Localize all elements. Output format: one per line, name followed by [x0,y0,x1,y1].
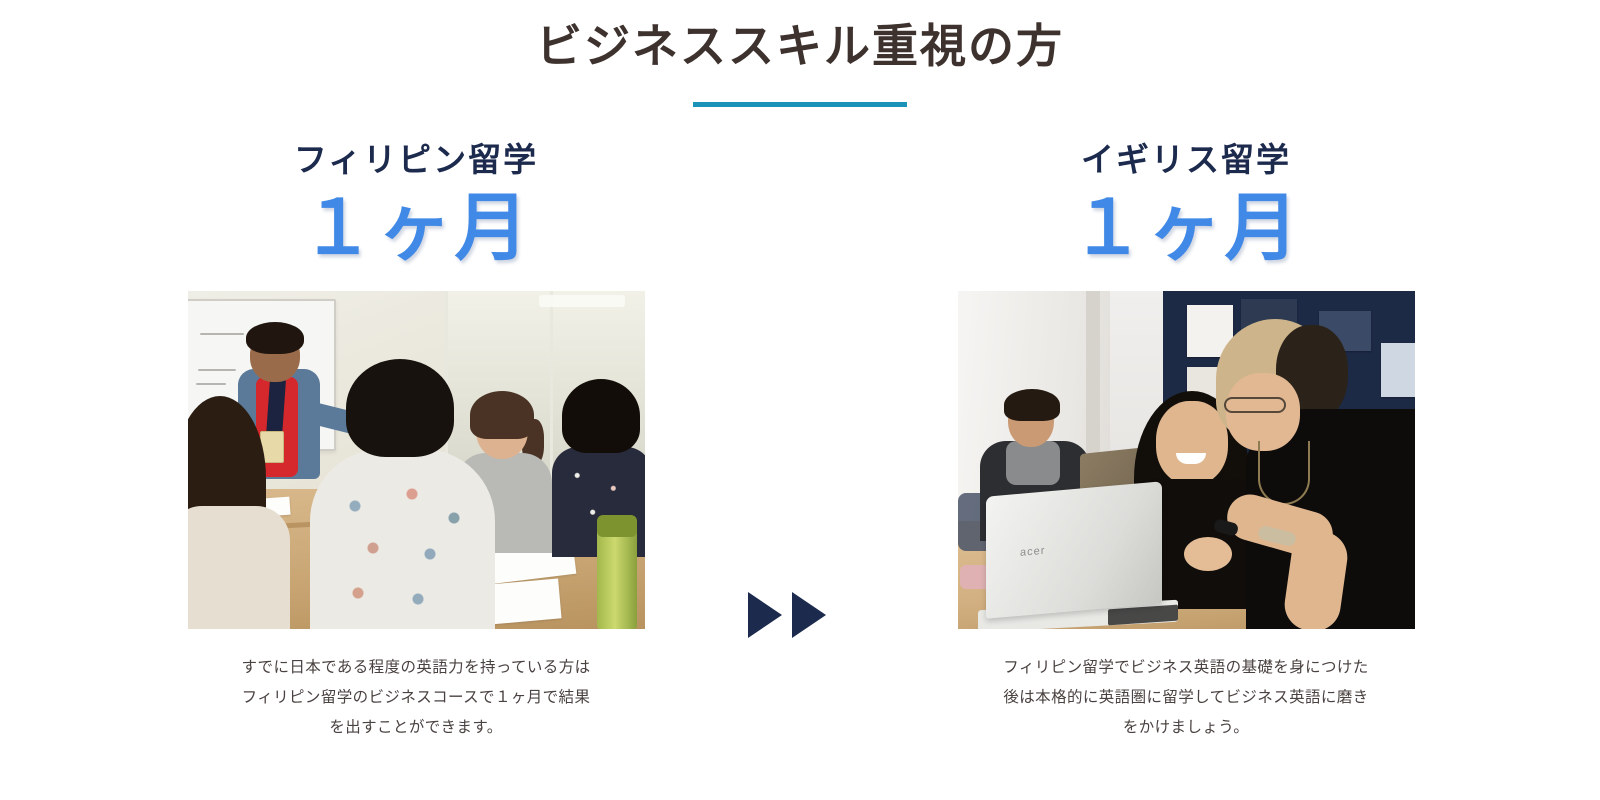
ceiling-light [539,295,625,307]
teacher-hand [1184,537,1232,571]
column-heading-philippines: フィリピン留学 １ヶ月 [136,140,696,271]
photo-uk-classroom: acer [958,291,1415,629]
whiteboard-writing [200,333,244,335]
necklace [1258,441,1310,505]
student-head-back [346,359,454,457]
whiteboard-writing [196,383,226,385]
column-philippines: フィリピン留学 １ヶ月 [136,140,696,744]
teacher-hair [246,322,304,354]
caption-line: すでに日本である程度の英語力を持っている方は [181,653,651,683]
caption-line: 後は本格的に英語圏に留学してビジネス英語に磨き [951,683,1421,713]
column-heading-uk: イギリス留学 １ヶ月 [906,140,1466,271]
student-hair [470,391,534,439]
column-uk: イギリス留学 １ヶ月 [906,140,1466,744]
country-label-philippines: フィリピン留学 [136,140,696,180]
glasses-icon [1224,397,1286,413]
caption-philippines: すでに日本である程度の英語力を持っている方は フィリピン留学のビジネスコースで１… [181,653,651,744]
whiteboard-writing [198,369,236,371]
comparison-columns: フィリピン留学 １ヶ月 [0,140,1600,780]
laptop-lid [986,481,1162,618]
photo-philippines-classroom [188,291,645,629]
poster [1381,343,1415,397]
shirt-pattern [328,473,478,623]
duration-label-philippines: １ヶ月 [136,184,696,271]
caption-line: フィリピン留学でビジネス英語の基礎を身につけた [951,653,1421,683]
student-cream-top [188,506,290,629]
arrow-triangle-1-icon [748,592,782,638]
double-right-arrow-icon [748,592,826,638]
arrow-triangle-2-icon [792,592,826,638]
caption-line: を出すことができます。 [181,713,651,743]
page-title-block: ビジネススキル重視の方 [0,18,1600,107]
student-hair [562,379,640,453]
caption-line: をかけましょう。 [951,713,1421,743]
student-hair [1004,389,1060,421]
title-underline [693,102,907,107]
comparison-page: ビジネススキル重視の方 フィリピン留学 １ヶ月 [0,0,1600,800]
caption-line: フィリピン留学のビジネスコースで１ヶ月で結果 [181,683,651,713]
student-scarf [1006,441,1060,485]
student-face [1156,401,1228,485]
duration-label-uk: １ヶ月 [906,184,1466,271]
page-title: ビジネススキル重視の方 [0,18,1600,76]
country-label-uk: イギリス留学 [906,140,1466,180]
caption-uk: フィリピン留学でビジネス英語の基礎を身につけた 後は本格的に英語圏に留学してビジ… [951,653,1421,744]
bottle-cap [597,515,637,537]
teacher-lanyard [265,378,285,437]
